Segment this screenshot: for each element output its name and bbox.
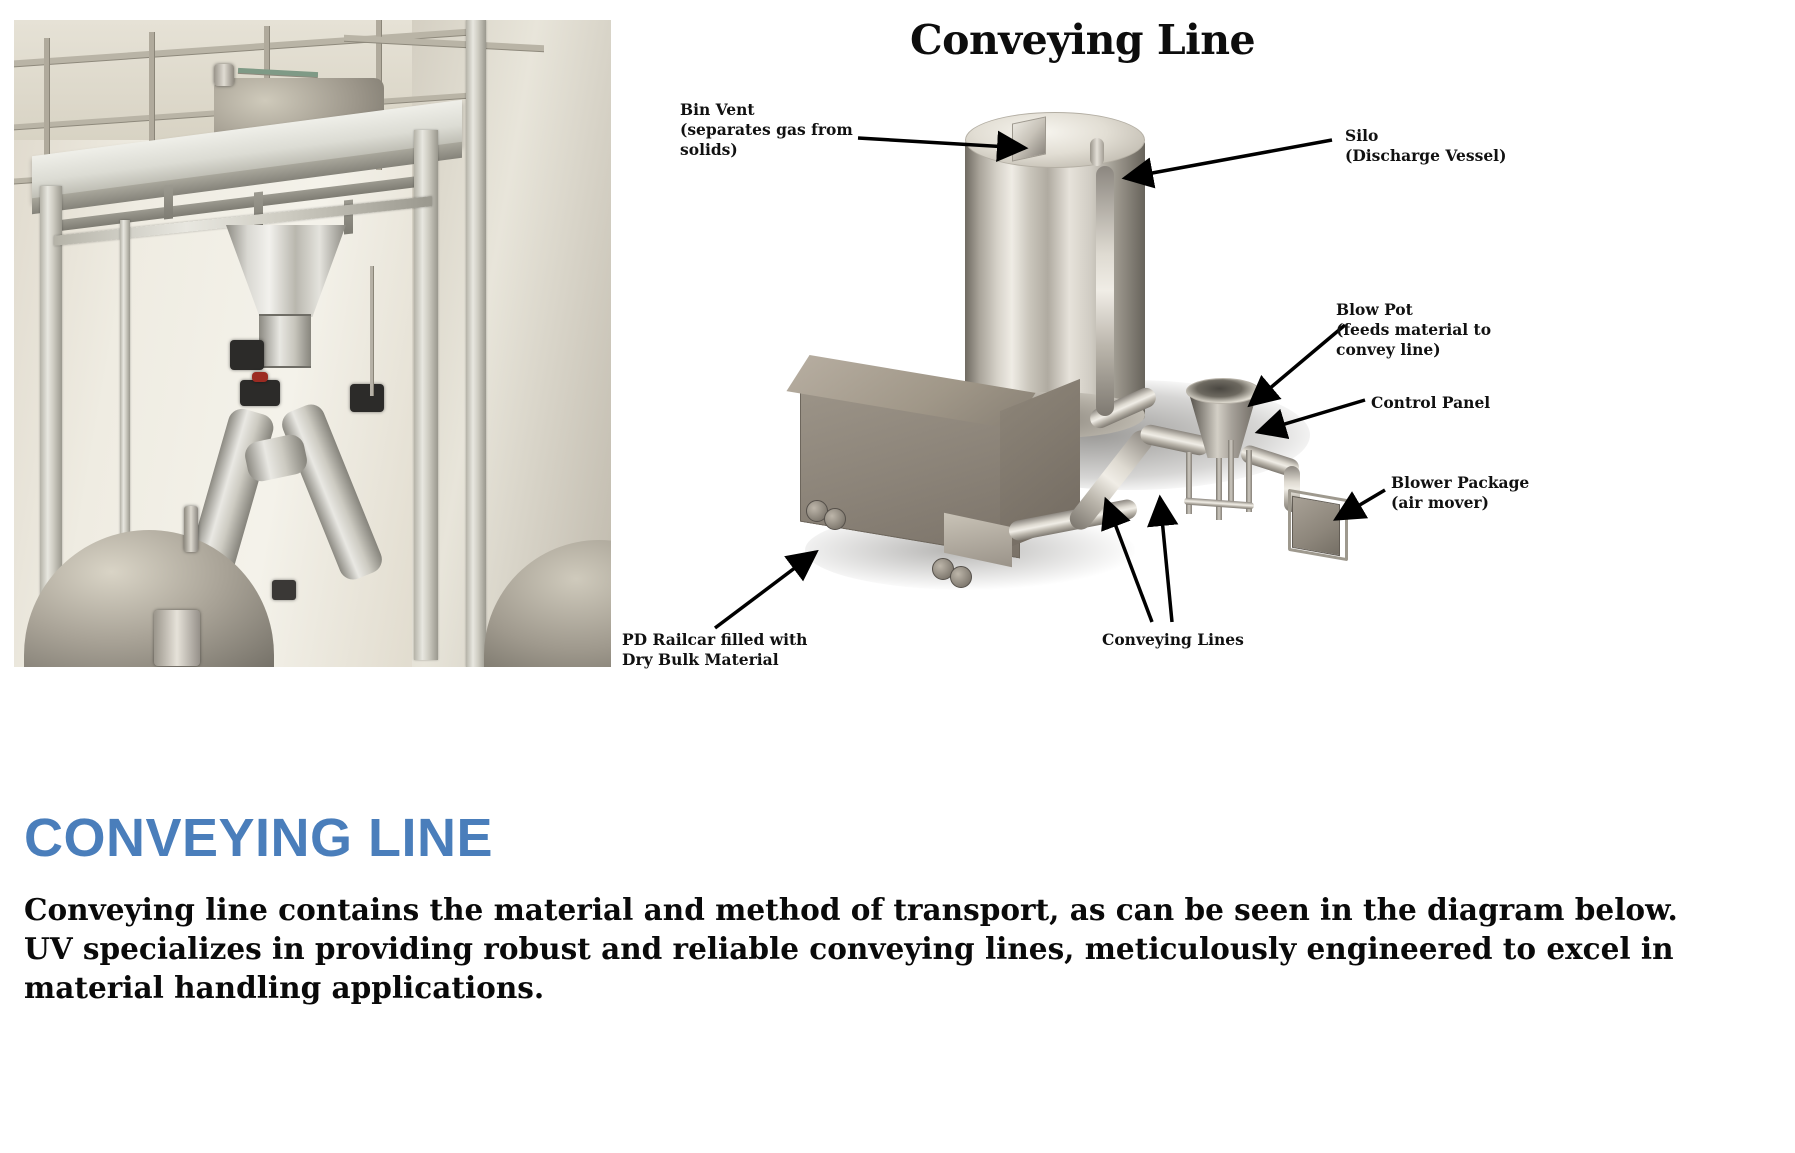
page-title: CONVEYING LINE <box>24 807 493 869</box>
silo-vessel <box>965 140 1145 420</box>
body-paragraph-1: Conveying line contains the material and… <box>24 890 1784 929</box>
label-conveying-lines: Conveying Lines <box>1102 630 1244 650</box>
label-control-panel: Control Panel <box>1371 393 1490 413</box>
indicator-red <box>252 372 268 382</box>
actuator-valve-center <box>240 380 280 406</box>
vessel-manway <box>154 610 200 666</box>
conveying-line-diagram: Conveying Line <box>620 0 1795 680</box>
blow-pot-leg-2 <box>1216 458 1222 520</box>
frame-post-mid <box>414 130 438 660</box>
vessel-fitting <box>272 580 296 600</box>
actuator-valve-left <box>230 340 264 370</box>
railcar-wheel-4 <box>950 566 972 588</box>
label-silo: Silo (Discharge Vessel) <box>1345 126 1506 166</box>
page-root: Conveying Line <box>0 0 1795 1153</box>
actuator-valve-right <box>350 384 384 412</box>
vessel-nozzle <box>184 506 198 552</box>
label-blower-package: Blower Package (air mover) <box>1391 473 1529 513</box>
blower-package-frame <box>1288 489 1348 562</box>
hopper-neck <box>259 314 311 368</box>
silo-top-cap <box>965 112 1145 168</box>
bin-vent-unit <box>1012 116 1046 161</box>
body-copy: Conveying line contains the material and… <box>24 890 1784 1008</box>
silo-outlet-pipe <box>1090 138 1104 166</box>
platform-beam-2 <box>164 184 173 219</box>
label-bin-vent: Bin Vent (separates gas from solids) <box>680 100 853 159</box>
sensor-cable <box>370 266 373 396</box>
railcar-wheel-2 <box>824 508 846 530</box>
diagram-title: Conveying Line <box>910 16 1255 64</box>
frame-post-right <box>466 20 486 667</box>
equipment-photo <box>14 20 611 667</box>
label-pd-railcar: PD Railcar filled with Dry Bulk Material <box>622 630 807 670</box>
blow-pot-rim <box>1186 378 1260 404</box>
body-paragraph-2: UV specializes in providing robust and r… <box>24 929 1784 1007</box>
upper-vessel-fitting <box>214 64 234 86</box>
conveying-pipe-vertical-riser <box>1096 166 1114 416</box>
label-blow-pot: Blow Pot (feeds material to convey line) <box>1336 300 1491 359</box>
blow-pot-leg-4 <box>1228 440 1234 502</box>
